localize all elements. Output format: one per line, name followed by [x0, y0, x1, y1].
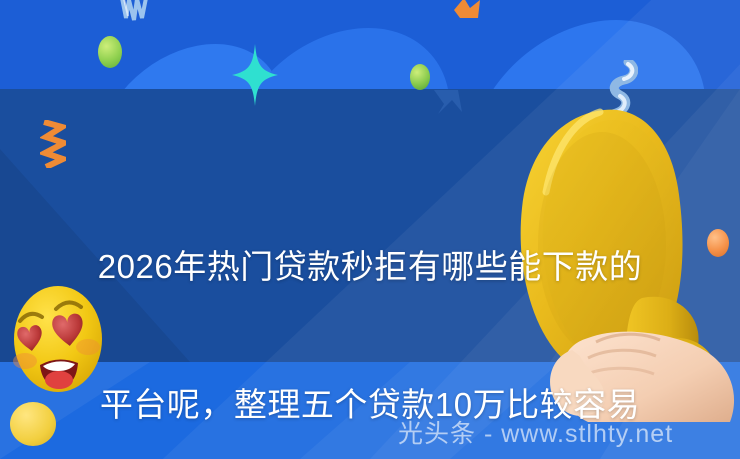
site-watermark: 光头条 - www.stlhty.net	[398, 414, 673, 450]
promo-banner: 2026年热门贷款秒拒有哪些能下款的 平台呢，整理五个贷款10万比较容易 的口子…	[0, 0, 740, 459]
background-band-top	[0, 0, 740, 89]
banner-title: 2026年热门贷款秒拒有哪些能下款的 平台呢，整理五个贷款10万比较容易 的口子	[0, 152, 740, 459]
title-line-1: 2026年热门贷款秒拒有哪些能下款的	[0, 244, 740, 290]
